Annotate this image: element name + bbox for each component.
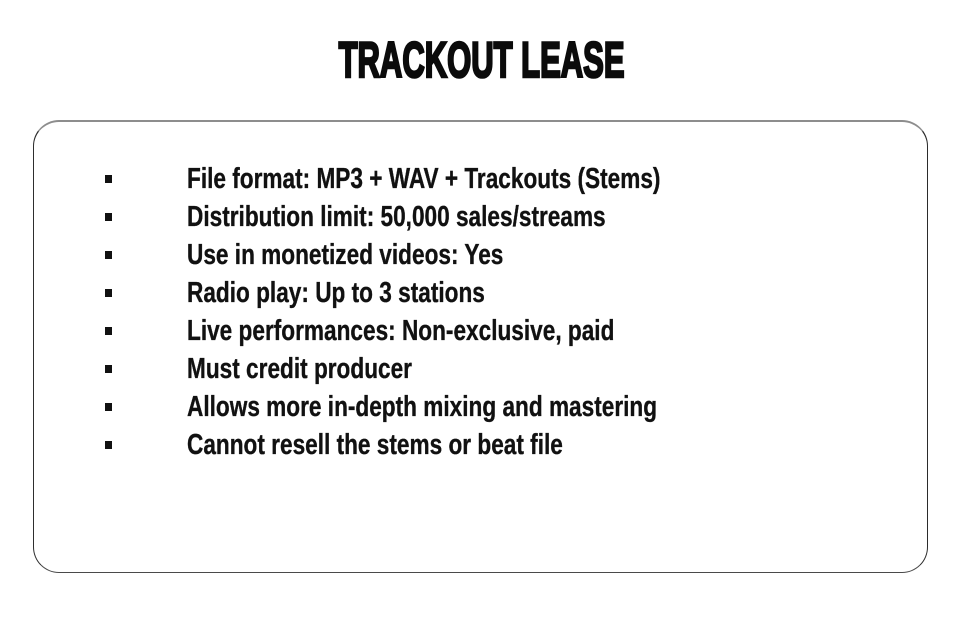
list-item: Live performances: Non-exclusive, paid	[34, 312, 927, 350]
square-bullet-icon	[105, 175, 112, 183]
list-item-label: Cannot resell the stems or beat file	[187, 426, 563, 464]
list-item: Distribution limit: 50,000 sales/streams	[34, 198, 927, 236]
square-bullet-icon	[105, 441, 112, 449]
list-item-label: Live performances: Non-exclusive, paid	[187, 312, 614, 350]
list-item-label: Radio play: Up to 3 stations	[187, 274, 485, 312]
list-item-label: File format: MP3 + WAV + Trackouts (Stem…	[187, 160, 660, 198]
square-bullet-icon	[105, 213, 112, 221]
square-bullet-icon	[105, 289, 112, 297]
square-bullet-icon	[105, 365, 112, 373]
list-item-label: Must credit producer	[187, 350, 412, 388]
list-item: Allows more in-depth mixing and masterin…	[34, 388, 927, 426]
list-item-label: Use in monetized videos: Yes	[187, 236, 503, 274]
list-item-label: Distribution limit: 50,000 sales/streams	[187, 198, 606, 236]
page-title-container: TRACKOUT LEASE	[0, 34, 963, 94]
square-bullet-icon	[105, 403, 112, 411]
list-item: Radio play: Up to 3 stations	[34, 274, 927, 312]
square-bullet-icon	[105, 327, 112, 335]
list-item: Use in monetized videos: Yes	[34, 236, 927, 274]
square-bullet-icon	[105, 251, 112, 259]
lease-terms-card: File format: MP3 + WAV + Trackouts (Stem…	[33, 120, 928, 573]
list-item: Must credit producer	[34, 350, 927, 388]
list-item: File format: MP3 + WAV + Trackouts (Stem…	[34, 160, 927, 198]
page-title: TRACKOUT LEASE	[339, 34, 625, 86]
slide-canvas: { "slide": { "title": "TRACKOUT LEASE", …	[0, 0, 963, 617]
list-item-label: Allows more in-depth mixing and masterin…	[187, 388, 657, 426]
list-item: Cannot resell the stems or beat file	[34, 426, 927, 464]
